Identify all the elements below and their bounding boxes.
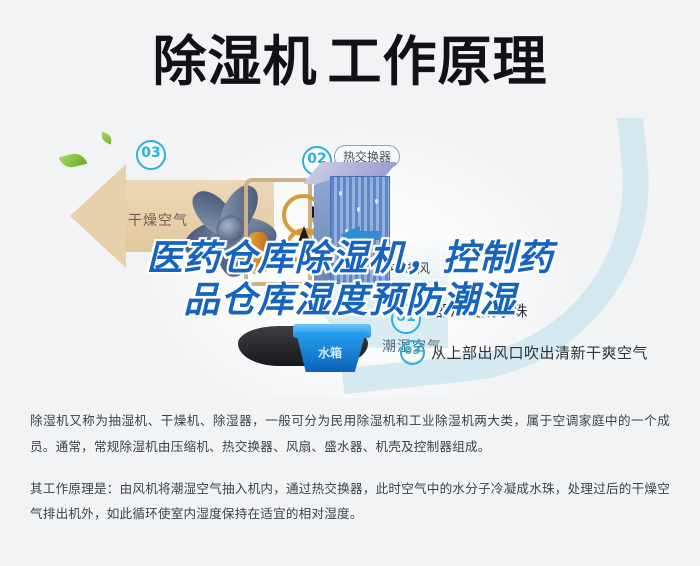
leaf-icon bbox=[99, 131, 114, 144]
water-droplet-icon bbox=[351, 265, 354, 270]
compressor-cylinder bbox=[248, 232, 268, 274]
article-body: 除湿机又称为抽湿机、干燥机、除湿器，一般可分为民用除湿机和工业除湿机两大类，属于… bbox=[0, 408, 700, 543]
water-droplet-icon bbox=[339, 191, 342, 196]
working-principle-diagram: 干燥空气 03 02 热交换器 bbox=[0, 118, 700, 403]
step-outlet: 03 从上部出风口吹出清新干爽空气 bbox=[400, 340, 648, 365]
air-intake-arrow-icon bbox=[340, 226, 360, 244]
step-intake-text: 中进风 bbox=[390, 258, 431, 277]
water-droplet-icon bbox=[357, 207, 360, 212]
flow-arrow-up-icon bbox=[298, 226, 310, 242]
page-header: 除湿机工作原理 bbox=[0, 22, 700, 102]
page-title-part2: 工作原理 bbox=[328, 30, 548, 93]
step-condense: 器冷凝成水珠 bbox=[435, 300, 528, 321]
water-droplet-icon bbox=[375, 199, 378, 204]
dry-air-arrow-head bbox=[70, 164, 126, 268]
water-droplet-icon bbox=[381, 261, 384, 266]
water-droplet-icon bbox=[367, 243, 370, 248]
page-title: 除湿机工作原理 bbox=[153, 35, 548, 89]
infographic-page: 除湿机工作原理 干燥空气 03 bbox=[0, 0, 700, 566]
page-title-part1: 除湿机 bbox=[153, 30, 318, 93]
article-paragraph-1: 除湿机又称为抽湿机、干燥机、除湿器，一般可分为民用除湿机和工业除湿机两大类，属于… bbox=[30, 408, 670, 460]
badge-01: 01 bbox=[391, 304, 421, 334]
heat-exchanger-fins bbox=[330, 176, 390, 284]
fan-hub bbox=[219, 218, 243, 242]
step-intake: 中进风 bbox=[390, 258, 431, 277]
step-condense-text: 器冷凝成水珠 bbox=[435, 300, 528, 321]
badge-03: 03 bbox=[136, 140, 166, 170]
step-outlet-number: 03 bbox=[400, 340, 425, 365]
water-tank-label: 水箱 bbox=[318, 344, 342, 361]
water-tank-icon: 水箱 bbox=[296, 324, 382, 376]
article-paragraph-2: 其工作原理是：由风机将潮湿空气抽入机内，通过热交换器，此时空气中的水分子冷凝成水… bbox=[30, 476, 670, 528]
step-outlet-text: 从上部出风口吹出清新干爽空气 bbox=[431, 342, 648, 363]
air-intake-arrow-tail bbox=[358, 231, 380, 240]
